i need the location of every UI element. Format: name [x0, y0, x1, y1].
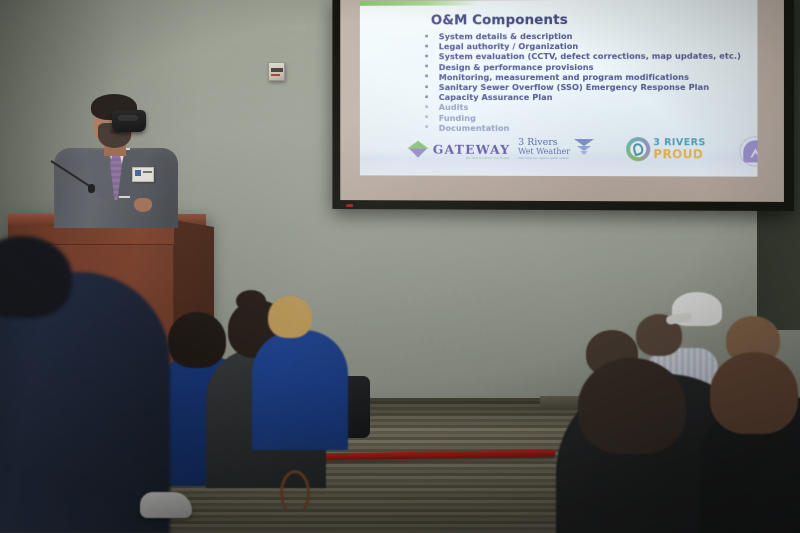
slide-bullet: Capacity Assurance Plan: [421, 92, 749, 102]
rww-line2: Wet Weather: [518, 147, 570, 156]
panel-display-icon: [271, 68, 283, 72]
gateway-tagline: We Take You Place You Forget: [466, 156, 509, 159]
foreground-audience-head-right: [578, 358, 686, 454]
slide-bullet: Monitoring, measurement and program modi…: [421, 72, 749, 83]
three-rivers-proud-logo: 3 RIVERS PROUD: [626, 137, 706, 161]
slide-accent-stripe: [360, 0, 478, 5]
speaker-hand: [134, 198, 152, 212]
speaker-name-badge: [132, 167, 154, 182]
slide-bullet: Audits: [421, 102, 749, 112]
foreground-audience-head-right-2: [710, 352, 798, 434]
podium-device: [112, 110, 146, 132]
seal-icon: [739, 136, 757, 164]
audience-shoe: [140, 492, 192, 518]
slide-bullet-list: System details & description Legal autho…: [421, 30, 749, 133]
municipal-seal-logo: [739, 136, 757, 164]
audience-head: [268, 296, 312, 338]
projection-screen-surface: O&M Components System details & descript…: [340, 0, 784, 202]
panel-indicator-icon: [271, 74, 280, 76]
gateway-diamond-icon: [407, 138, 429, 160]
proud-line2: PROUD: [653, 148, 705, 160]
microphone-icon: [88, 184, 95, 193]
slide-bullet: Design & performance provisions: [421, 61, 749, 72]
slide-bullet: Legal authority / Organization: [421, 41, 749, 52]
proud-swirl-icon: [626, 137, 650, 161]
slide-bullet: Funding: [421, 113, 749, 123]
slide-bullet: Sanitary Sewer Overflow (SSO) Emergency …: [421, 82, 749, 92]
slide-logo-row: GATEWAY We Take You Place You Forget 3 R…: [360, 128, 758, 163]
gateway-wordmark: GATEWAY: [433, 141, 511, 156]
thermostat-control-panel[interactable]: [268, 62, 285, 81]
gateway-logo: GATEWAY We Take You Place You Forget: [407, 138, 510, 160]
audience-head: [168, 312, 226, 368]
audience-member: [252, 330, 348, 450]
power-led-icon: [346, 204, 353, 207]
bag-handle: [280, 470, 310, 516]
presentation-room-scene: O&M Components System details & descript…: [0, 0, 800, 533]
projection-screen-frame: O&M Components System details & descript…: [332, 0, 794, 211]
slide-title: O&M Components: [431, 12, 568, 28]
slide-bullet: System evaluation (CCTV, defect correcti…: [421, 51, 749, 62]
rww-funnel-icon: [573, 139, 595, 159]
audience-hair-bun: [236, 290, 266, 312]
presentation-slide: O&M Components System details & descript…: [360, 0, 758, 177]
rww-tagline: Improving our region's water quality: [518, 157, 570, 160]
three-rivers-wet-weather-logo: 3 Rivers Wet Weather Improving our regio…: [518, 138, 595, 160]
